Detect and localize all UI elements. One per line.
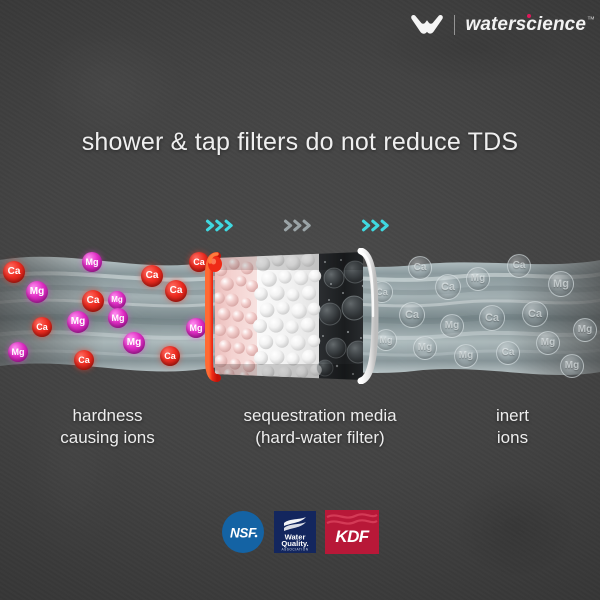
kdf-badge: KDF [325, 510, 379, 559]
caption-left-line2: causing ions [0, 427, 215, 449]
section-captions: hardness causing ions sequestration medi… [0, 405, 600, 449]
water-quality-association-badge: Water Quality. ASSOCIATION [274, 511, 316, 558]
cartridge-outlet-cap [361, 251, 375, 381]
caption-mid-line1: sequestration media [243, 406, 396, 425]
caption-inert-ions: inert ions [425, 405, 600, 449]
flow-direction-arrows [0, 219, 600, 232]
svg-text:NSF: NSF [230, 526, 257, 541]
chevron-triple-right-icon-muted [283, 219, 317, 232]
filter-cartridge [203, 248, 389, 384]
caption-hardness-ions: hardness causing ions [0, 405, 215, 449]
caption-sequestration-media: sequestration media (hard-water filter) [215, 405, 425, 449]
infographic-canvas: waterscience ™ shower & tap filters do n… [0, 0, 600, 600]
caption-right-line2: ions [425, 427, 600, 449]
page-title: shower & tap filters do not reduce TDS [0, 128, 600, 157]
trademark-symbol: ™ [587, 16, 595, 24]
svg-text:KDF: KDF [335, 527, 369, 546]
w-wave-logo-icon [410, 14, 444, 35]
nsf-certification-badge: NSF [221, 510, 265, 559]
brand-divider [454, 15, 455, 35]
brand-name-text: waterscience [465, 14, 586, 35]
caption-mid-line2: (hard-water filter) [215, 427, 425, 449]
chevron-triple-right-icon [205, 219, 239, 232]
svg-text:ASSOCIATION: ASSOCIATION [281, 548, 308, 552]
chevron-triple-right-icon-2 [361, 219, 395, 232]
caption-right-line1: inert [496, 406, 529, 425]
brand-accent-dot [527, 14, 531, 18]
brand-name: waterscience ™ [465, 15, 586, 34]
brand-logo: waterscience ™ [410, 14, 586, 35]
caption-left-line1: hardness [73, 406, 143, 425]
certification-badges: NSF Water Quality. ASSOCIATION [0, 510, 600, 559]
